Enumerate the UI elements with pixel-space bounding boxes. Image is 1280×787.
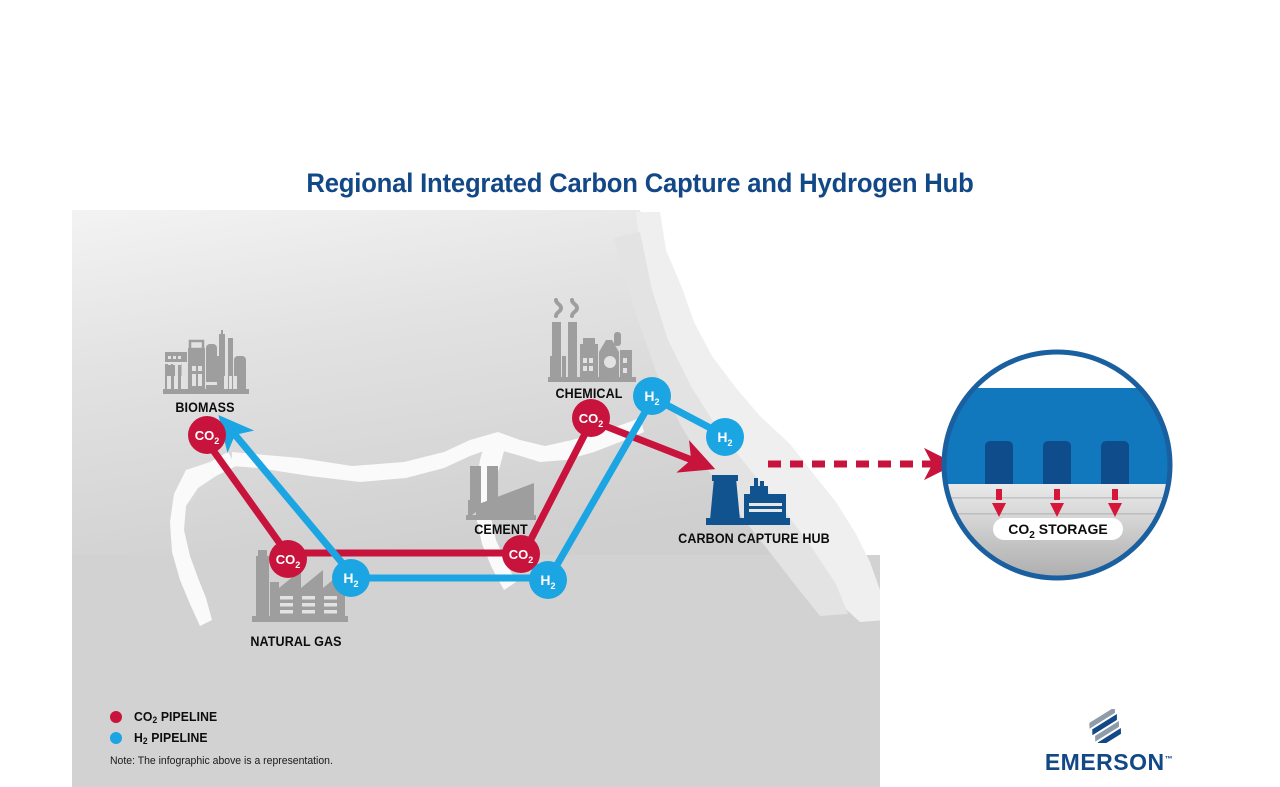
refinery-icon	[163, 330, 249, 394]
emerson-diagonal-mark	[1088, 709, 1130, 743]
emerson-logo: EMERSON™	[1034, 709, 1184, 776]
co2-pipe-chemical-hub	[600, 424, 697, 462]
plant-label-carbon-capture-hub: CARBON CAPTURE HUB	[678, 531, 830, 546]
legend-dot-h2	[110, 732, 122, 744]
badge-co2-biomass: CO2	[188, 416, 226, 454]
legend-dot-co2	[110, 711, 122, 723]
badge-h2-chemical: H2	[633, 377, 671, 415]
infographic-canvas: Regional Integrated Carbon Capture and H…	[0, 0, 1280, 787]
legend-label-co2: CO2 PIPELINE	[134, 709, 217, 724]
well-platforms	[985, 441, 1129, 484]
legend-h2-sub: 2	[143, 736, 148, 746]
badge-co2-natural-gas: CO2	[269, 540, 307, 578]
badge-h2-cement: H2	[529, 561, 567, 599]
legend-co2-suffix: PIPELINE	[157, 709, 217, 724]
emerson-name: EMERSON	[1045, 749, 1165, 775]
storage-pill: CO2 STORAGE	[993, 518, 1123, 541]
legend-co2-sub: 2	[153, 715, 158, 725]
legend-item-co2-pipeline: CO2 PIPELINE	[110, 706, 440, 727]
chemical-plant-icon	[548, 300, 636, 382]
h2-pipe-chemical-hub	[663, 403, 716, 431]
storage-pill-label: CO	[1008, 521, 1029, 537]
pipeline-network	[210, 403, 938, 578]
diagram-artwork: CO2 STORAGE CO2 CO2	[0, 0, 1280, 787]
legend-note: Note: The infographic above is a represe…	[110, 755, 424, 767]
plant-label-biomass: BIOMASS	[175, 400, 234, 415]
legend-h2-formula: H	[134, 730, 143, 745]
storage-pill-suffix: STORAGE	[1035, 521, 1108, 537]
emerson-wordmark: EMERSON™	[1034, 749, 1184, 776]
plant-label-chemical: CHEMICAL	[555, 386, 622, 401]
legend-h2-suffix: PIPELINE	[148, 730, 208, 745]
plant-label-cement: CEMENT	[474, 522, 528, 537]
legend-co2-formula: CO	[134, 709, 153, 724]
legend: CO2 PIPELINE H2 PIPELINE Note: The infog…	[110, 706, 440, 767]
badge-h2-natural-gas: H2	[332, 559, 370, 597]
badge-h2-hub: H2	[706, 418, 744, 456]
co2-storage-diagram: CO2 STORAGE	[944, 352, 1170, 584]
plant-label-natural-gas: NATURAL GAS	[250, 634, 341, 649]
emerson-trademark: ™	[1165, 754, 1174, 763]
legend-item-h2-pipeline: H2 PIPELINE	[110, 727, 440, 748]
cement-plant-icon	[466, 466, 536, 520]
legend-label-h2: H2 PIPELINE	[134, 730, 208, 745]
co2-pipe-biomass-naturalgas	[210, 446, 286, 552]
pipeline-badges: CO2 CO2 H2 CO2	[188, 377, 744, 599]
capture-hub-icon	[706, 475, 790, 525]
badge-co2-chemical: CO2	[572, 399, 610, 437]
